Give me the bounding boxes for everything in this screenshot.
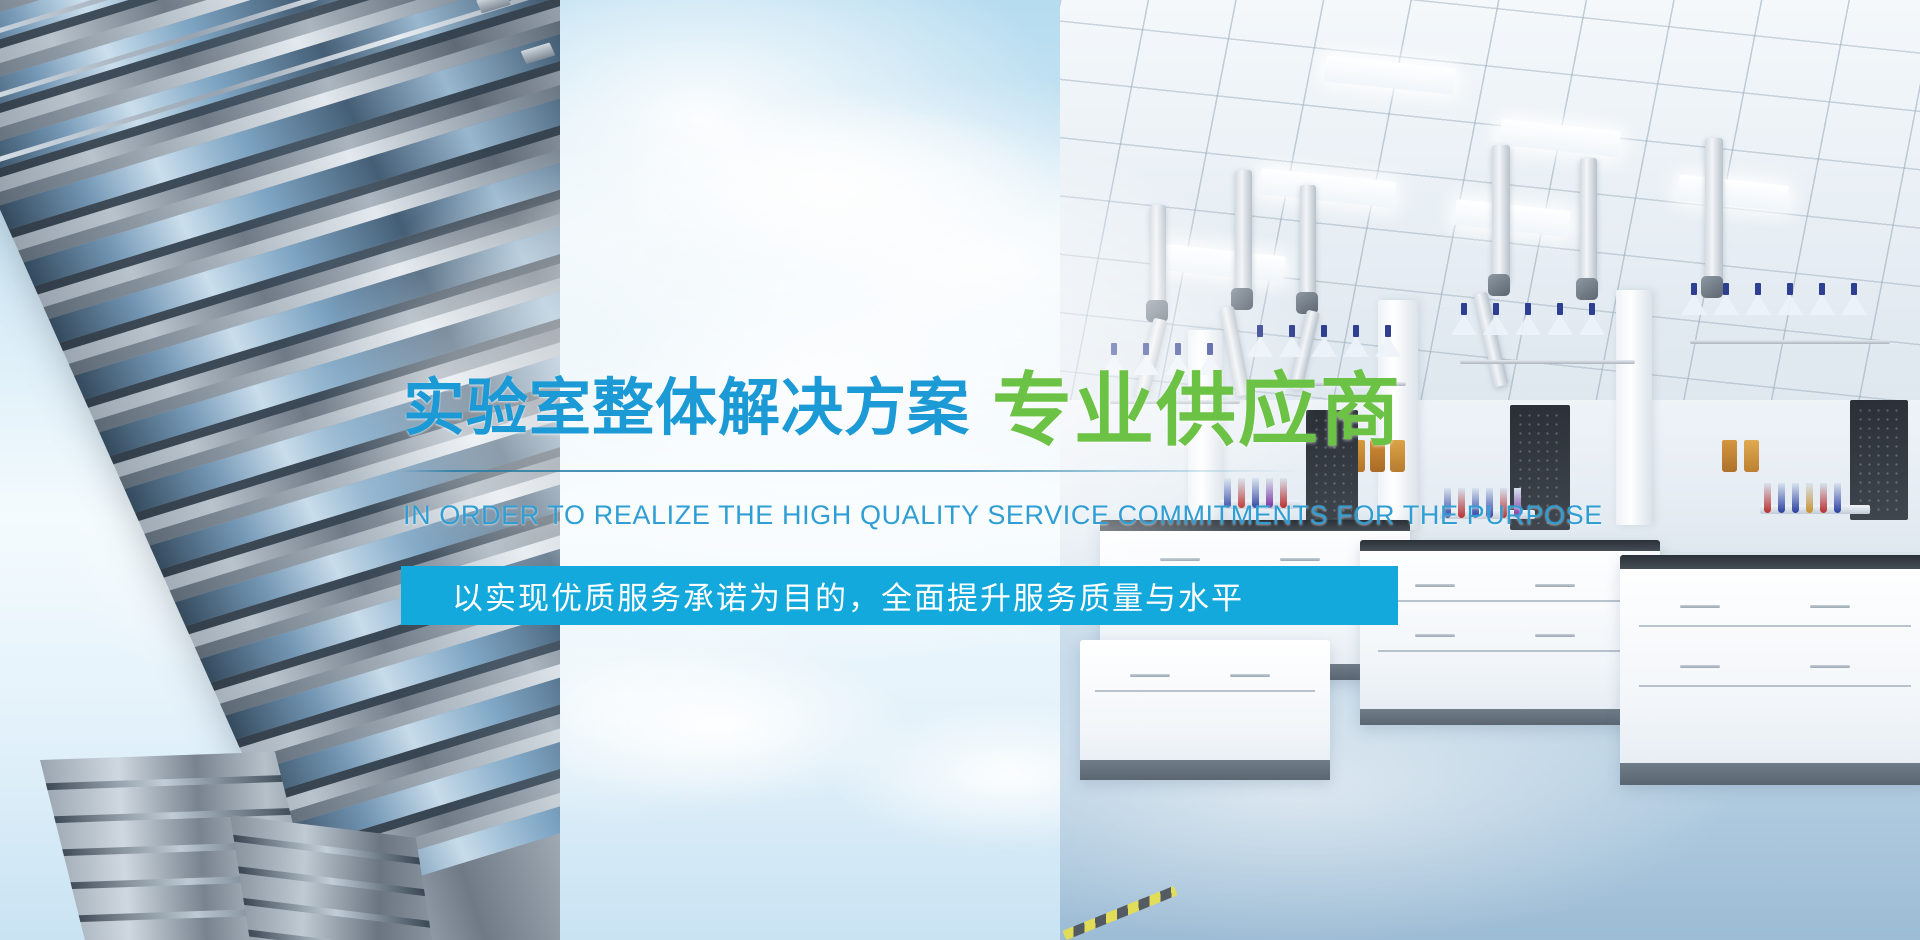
hero-banner: 实验室整体解决方案专业供应商 IN ORDER TO REALIZE THE H… [0, 0, 1920, 940]
callout-bar: 以实现优质服务承诺为目的，全面提升服务质量与水平 [401, 566, 1398, 625]
subtitle-english: IN ORDER TO REALIZE THE HIGH QUALITY SER… [403, 500, 1503, 531]
headline-divider [400, 470, 1300, 472]
headline-primary: 实验室整体解决方案 [403, 374, 970, 443]
headline-accent: 专业供应商 [992, 366, 1402, 455]
banner-content: 实验室整体解决方案专业供应商 IN ORDER TO REALIZE THE H… [0, 0, 1920, 940]
page-title: 实验室整体解决方案专业供应商 [403, 362, 1463, 442]
callout-bar-text: 以实现优质服务承诺为目的，全面提升服务质量与水平 [452, 573, 1244, 618]
